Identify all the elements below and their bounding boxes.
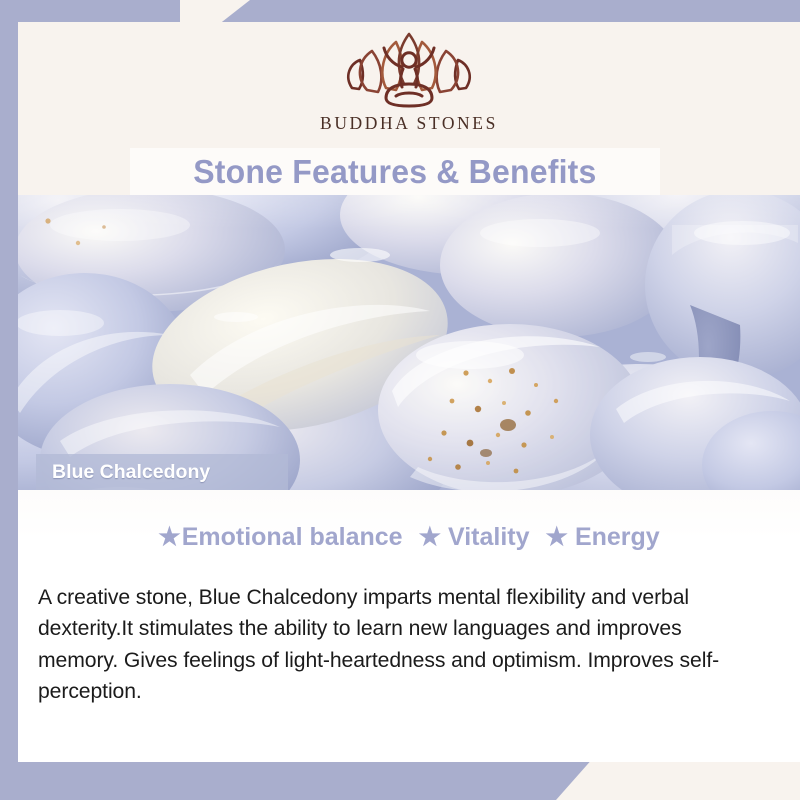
benefit-item-2: ★ Vitality (419, 523, 530, 552)
star-icon: ★ (546, 525, 568, 550)
benefits-row: ★ Emotional balance ★ Vitality ★ Energy (18, 516, 800, 558)
stone-photo-illustration (18, 195, 800, 490)
benefit-item-1: ★ Emotional balance (158, 523, 402, 552)
benefit-label-1: Emotional balance (182, 523, 403, 552)
photo-caption-bar: Blue Chalcedony (36, 454, 288, 490)
brand-logo-block: BUDDHA STONES (18, 22, 800, 144)
title-banner: Stone Features & Benefits (130, 148, 660, 195)
star-icon: ★ (158, 525, 180, 550)
content-card: BUDDHA STONES Stone Features & Benefits (18, 22, 800, 762)
brand-wordmark: BUDDHA STONES (320, 113, 498, 134)
photo-caption-label: Blue Chalcedony (52, 461, 210, 484)
lotus-meditation-icon (334, 26, 484, 112)
poster-root: BUDDHA STONES Stone Features & Benefits (0, 0, 800, 800)
page-title: Stone Features & Benefits (193, 153, 596, 191)
description-paragraph: A creative stone, Blue Chalcedony impart… (38, 582, 745, 708)
benefit-label-2: Vitality (448, 523, 530, 552)
benefit-label-3: Energy (575, 523, 660, 552)
benefit-item-3: ★ Energy (546, 523, 660, 552)
bottom-bar-diagonal-wedge (556, 762, 636, 800)
star-icon: ★ (419, 525, 441, 550)
top-bar-diagonal-wedge (180, 0, 250, 23)
stone-photo: Blue Chalcedony (18, 195, 800, 490)
